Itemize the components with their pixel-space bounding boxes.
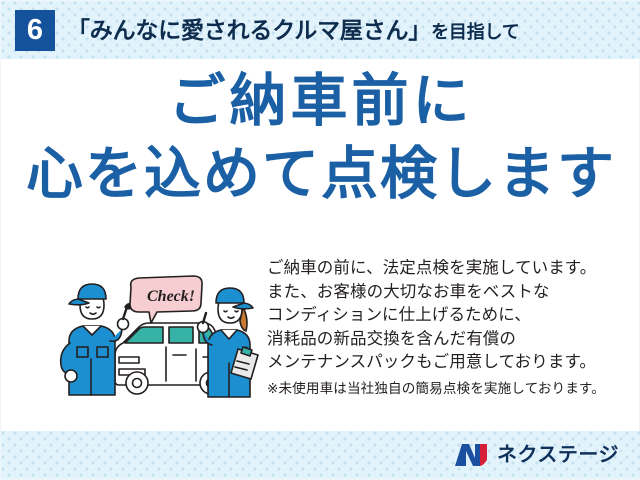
body-line: ご納車の前に、法定点検を実施しています。: [267, 257, 619, 281]
header-title-rest: を目指して: [431, 22, 519, 42]
footer-band: ネクステージ: [1, 431, 640, 479]
body-line: コンディションに仕上げるために、: [267, 304, 619, 328]
header-band: 6 「みんなに愛されるクルマ屋さん」を目指して: [1, 1, 640, 59]
header-title: 「みんなに愛されるクルマ屋さん」を目指して: [67, 19, 520, 42]
nextage-brand-name: ネクステージ: [497, 445, 619, 465]
headline: ご納車前に 心を込めて点検します: [1, 73, 640, 203]
headline-line-2: 心を込めて点検します: [1, 146, 640, 203]
promo-slide: 6 「みんなに愛されるクルマ屋さん」を目指して ご納車前に 心を込めて点検します…: [0, 0, 640, 480]
headline-line-1: ご納車前に: [1, 73, 640, 130]
body-copy: ご納車の前に、法定点検を実施しています。 また、お客様の大切なお車をベストな コ…: [267, 257, 619, 399]
header-inner: 6 「みんなに愛されるクルマ屋さん」を目指して: [15, 9, 640, 51]
body-line: 消耗品の新品交換を含んだ有償の: [267, 328, 619, 352]
body-line: また、お客様の大切なお車をベストな: [267, 281, 619, 305]
section-number-badge: 6: [15, 10, 55, 51]
header-title-quoted: 「みんなに愛されるクルマ屋さん」: [67, 17, 431, 43]
section-number: 6: [27, 16, 43, 45]
nextage-n-mark: [454, 442, 488, 468]
check-bubble-label: Check!: [147, 288, 195, 305]
mechanics-illustration: Check!: [53, 263, 263, 408]
nextage-logo: ネクステージ: [454, 442, 619, 468]
body-note: ※未使用車は当社独自の簡易点検を実施しております。: [267, 378, 619, 399]
body-line: メンテナンスパックもご用意しております。: [267, 351, 619, 375]
